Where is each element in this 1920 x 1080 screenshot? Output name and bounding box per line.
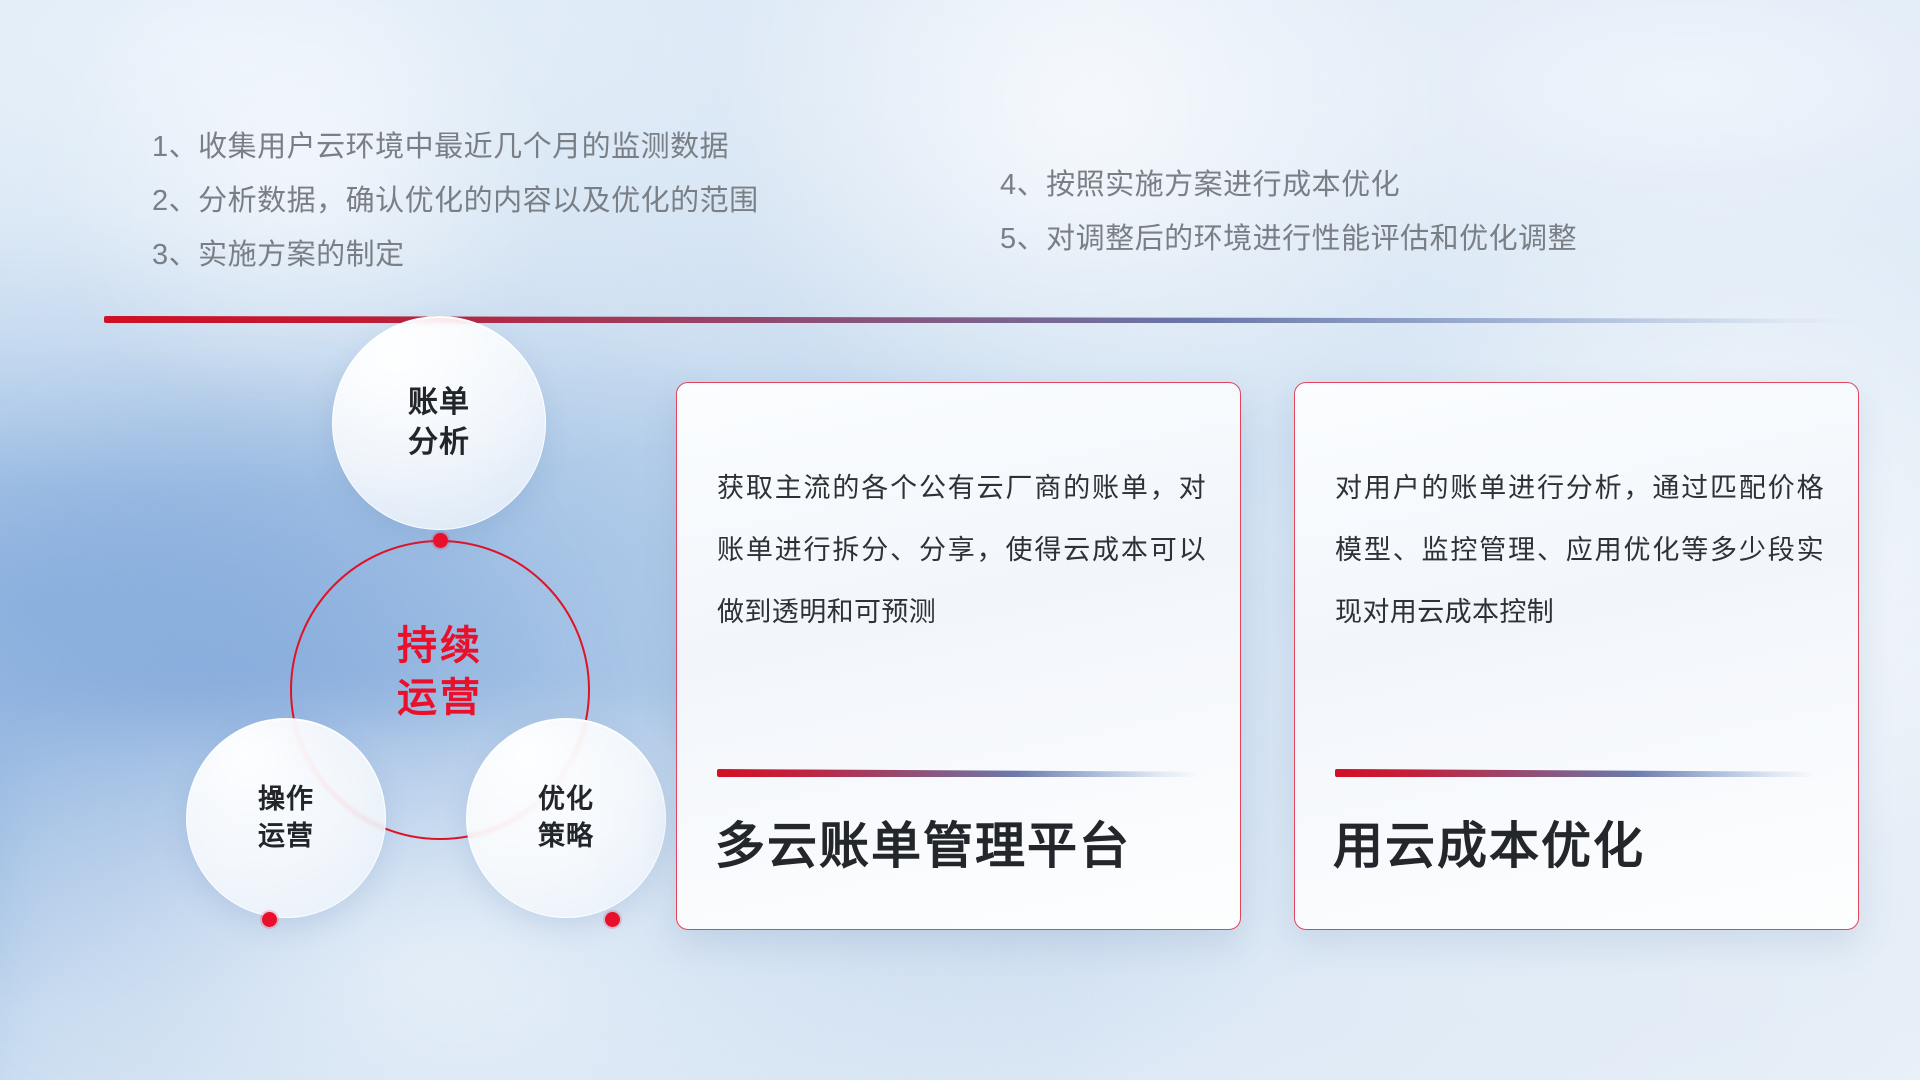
- venn-bubble-line1: 操作: [258, 781, 314, 818]
- venn-bubble-optimize-policy[interactable]: 优化 策略: [466, 718, 666, 918]
- continuous-operation-venn: 持续 运营 账单 分析 操作 运营 优化 策略: [96, 340, 656, 960]
- card-cloud-cost-optimization[interactable]: 对用户的账单进行分析，通过匹配价格模型、监控管理、应用优化等多少段实现对用云成本…: [1294, 382, 1859, 930]
- step-item-1: 1、收集用户云环境中最近几个月的监测数据: [152, 120, 759, 174]
- steps-left-column: 1、收集用户云环境中最近几个月的监测数据 2、分析数据，确认优化的内容以及优化的…: [152, 120, 759, 282]
- step-item-5: 5、对调整后的环境进行性能评估和优化调整: [1000, 212, 1577, 266]
- process-steps: 1、收集用户云环境中最近几个月的监测数据 2、分析数据，确认优化的内容以及优化的…: [0, 0, 1920, 300]
- venn-bubble-line1: 优化: [538, 781, 594, 818]
- venn-node-dot-bottom-right: [605, 912, 620, 927]
- venn-center-label-line2: 运营: [290, 672, 590, 724]
- venn-bubble-operation-ops[interactable]: 操作 运营: [186, 718, 386, 918]
- venn-bubble-label: 操作 运营: [258, 781, 314, 855]
- card-body-text: 获取主流的各个公有云厂商的账单，对账单进行拆分、分享，使得云成本可以做到透明和可…: [717, 457, 1206, 643]
- card-multi-cloud-bill-platform[interactable]: 获取主流的各个公有云厂商的账单，对账单进行拆分、分享，使得云成本可以做到透明和可…: [676, 382, 1241, 930]
- venn-bubble-line1: 账单: [408, 383, 470, 423]
- step-item-2: 2、分析数据，确认优化的内容以及优化的范围: [152, 174, 759, 228]
- venn-center-label-line1: 持续: [290, 620, 590, 672]
- venn-node-dot-top: [433, 533, 448, 548]
- card-divider: [1335, 769, 1817, 777]
- feature-cards: 获取主流的各个公有云厂商的账单，对账单进行拆分、分享，使得云成本可以做到透明和可…: [676, 382, 1886, 942]
- venn-bubble-line2: 分析: [408, 423, 470, 463]
- venn-bubble-bill-analysis[interactable]: 账单 分析: [332, 316, 546, 530]
- step-item-4: 4、按照实施方案进行成本优化: [1000, 158, 1577, 212]
- card-title: 多云账单管理平台: [715, 815, 1131, 877]
- steps-right-column: 4、按照实施方案进行成本优化 5、对调整后的环境进行性能评估和优化调整: [1000, 158, 1577, 266]
- venn-node-dot-bottom-left: [262, 912, 277, 927]
- venn-bubble-line2: 运营: [258, 818, 314, 855]
- venn-bubble-label: 账单 分析: [408, 383, 470, 463]
- step-item-3: 3、实施方案的制定: [152, 228, 759, 282]
- card-title: 用云成本优化: [1333, 815, 1645, 877]
- venn-bubble-line2: 策略: [538, 818, 594, 855]
- venn-center-label: 持续 运营: [290, 620, 590, 724]
- venn-bubble-label: 优化 策略: [538, 781, 594, 855]
- card-body-text: 对用户的账单进行分析，通过匹配价格模型、监控管理、应用优化等多少段实现对用云成本…: [1335, 457, 1824, 643]
- card-divider: [717, 769, 1199, 777]
